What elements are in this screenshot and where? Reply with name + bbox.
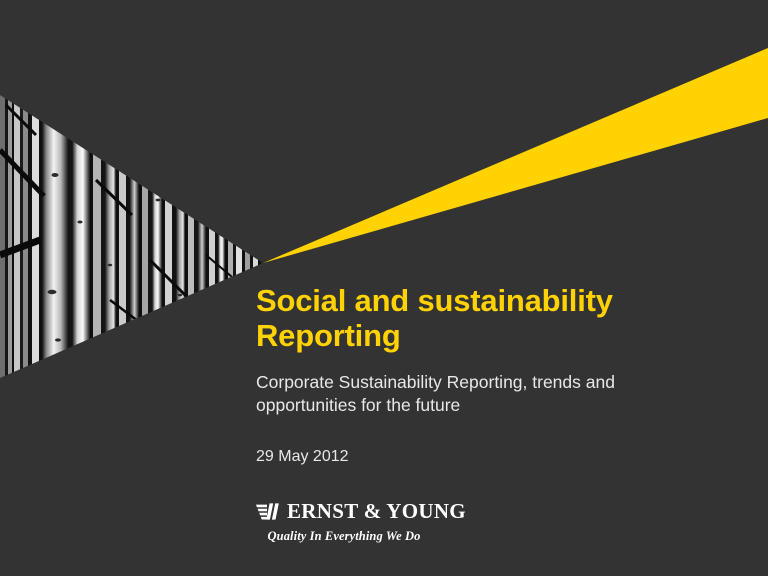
title-slide: Social and sustainability Reporting Corp… <box>0 0 768 576</box>
slide-subtitle: Corporate Sustainability Reporting, tren… <box>256 371 726 416</box>
ernst-and-young-logo: ERNST & YOUNG Quality In Everything We D… <box>256 500 432 546</box>
ey-beam-mark-icon <box>256 503 280 520</box>
birch-forest-photo <box>0 80 280 390</box>
logo-wordmark: ERNST & YOUNG <box>287 501 466 522</box>
yellow-beam-wedge <box>263 48 768 263</box>
page-title: Social and sustainability Reporting <box>256 284 726 353</box>
slide-text-block: Social and sustainability Reporting Corp… <box>256 284 726 466</box>
logo-lockup: ERNST & YOUNG <box>256 500 432 522</box>
logo-tagline: Quality In Everything We Do <box>256 529 432 544</box>
slide-date: 29 May 2012 <box>256 448 726 466</box>
